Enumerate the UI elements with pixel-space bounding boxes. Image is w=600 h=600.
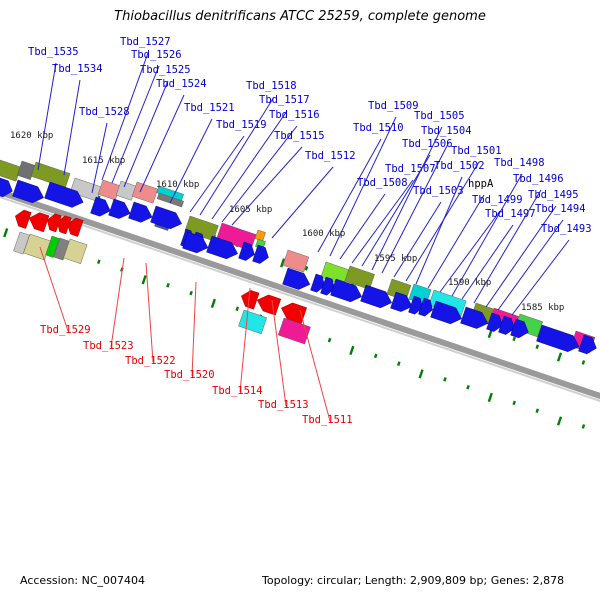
ruler-tick-label: 1620 kbp bbox=[10, 131, 53, 141]
genome-stats-text: Topology: circular; Length: 2,909,809 bp… bbox=[261, 574, 564, 587]
ruler-tick-label: 1585 kbp bbox=[521, 303, 564, 313]
ruler-tick-label: 1590 kbp bbox=[448, 278, 491, 288]
ruler-tick-label: 1595 kbp bbox=[374, 254, 417, 264]
accession-text: Accession: NC_007404 bbox=[20, 574, 145, 587]
ruler-tick-label: 1615 kbp bbox=[82, 156, 125, 166]
ruler-tick-label: 1605 kbp bbox=[229, 205, 272, 215]
ruler-tick-label: 1600 kbp bbox=[302, 229, 345, 239]
ruler-tick-label: 1610 kbp bbox=[156, 180, 199, 190]
footer-bar: Accession: NC_007404 Topology: circular;… bbox=[0, 560, 600, 600]
genome-map-viewer: Thiobacillus denitrificans ATCC 25259, c… bbox=[0, 0, 600, 600]
coordinate-ruler: 1620 kbp1615 kbp1610 kbp1605 kbp1600 kbp… bbox=[0, 0, 600, 600]
